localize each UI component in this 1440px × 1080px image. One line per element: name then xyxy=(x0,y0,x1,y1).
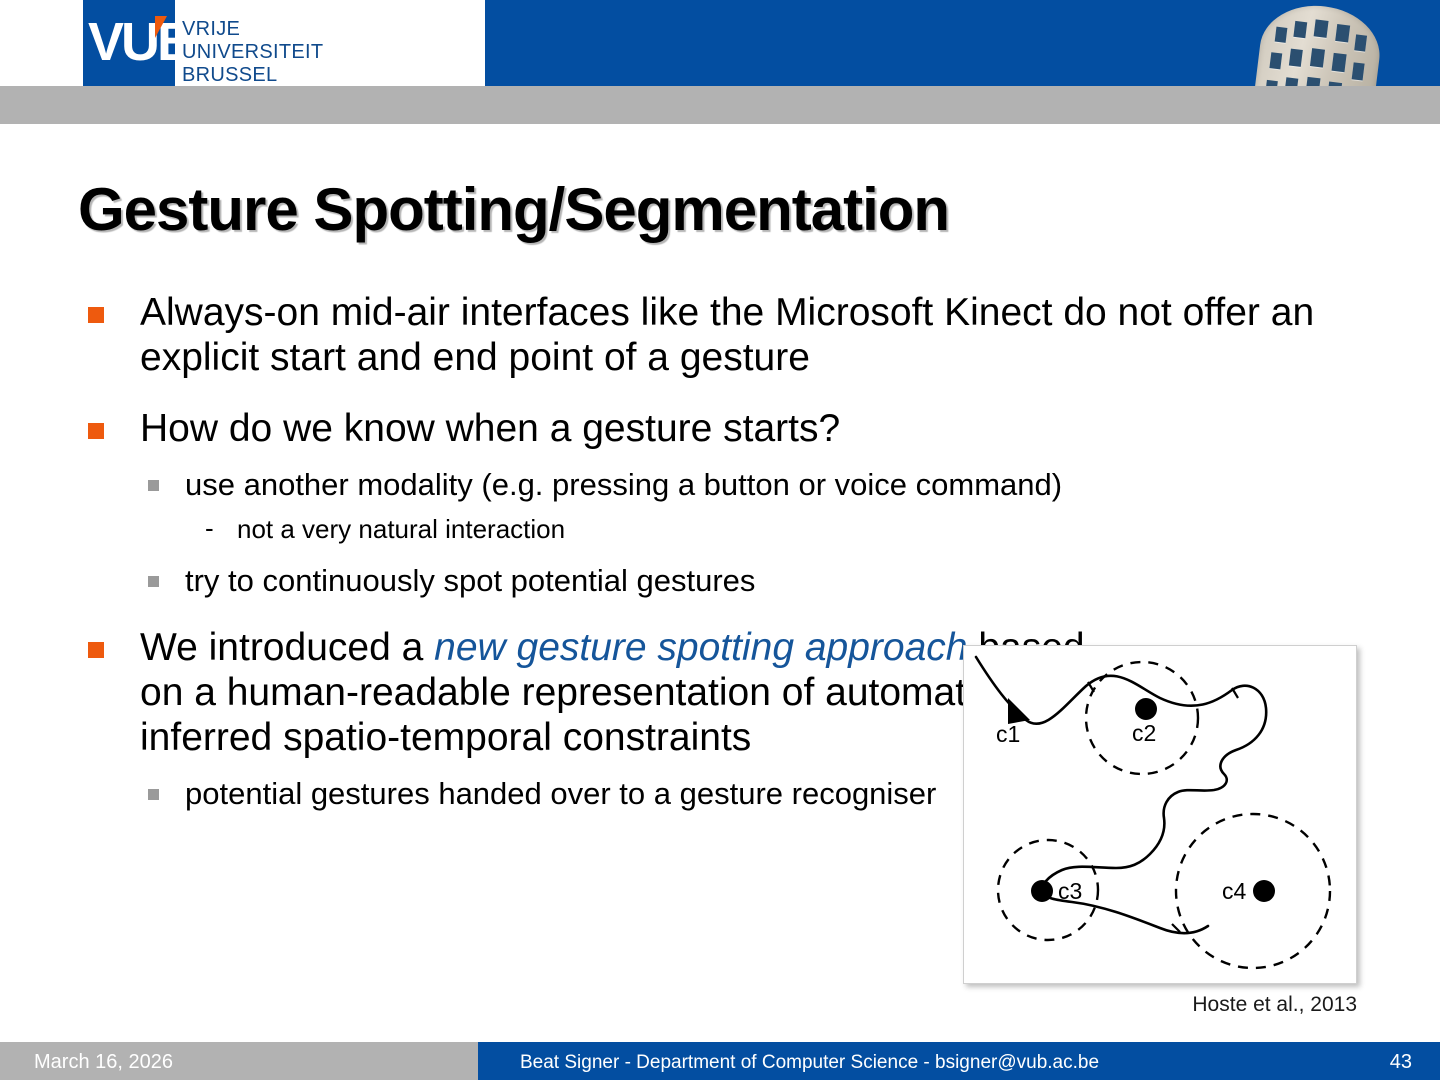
bullet-small-square-icon xyxy=(148,789,159,800)
page-title: Gesture Spotting/Segmentation xyxy=(78,175,1368,244)
bullet-level1-text-pre: We introduced a xyxy=(140,626,434,669)
figure-label-c3: c3 xyxy=(1058,878,1082,904)
gesture-spotting-figure: c1 c2 c3 c4 xyxy=(963,645,1357,984)
bullet-small-square-icon xyxy=(148,480,159,491)
bullet-level1-text: Always-on mid-air interfaces like the Mi… xyxy=(140,291,1314,379)
vub-logo-wordmark: VRIJE UNIVERSITEIT BRUSSEL xyxy=(182,18,323,87)
footer-page-number: 43 xyxy=(1390,1051,1412,1074)
bullet-level2-continuously-spot: try to continuously spot potential gestu… xyxy=(0,561,1440,601)
bullet-level2-potential-gestures: potential gestures handed over to a gest… xyxy=(0,774,945,814)
bullet-level2-text: use another modality (e.g. pressing a bu… xyxy=(185,467,1062,502)
emphasis-new-gesture-spotting-approach: new gesture spotting approach xyxy=(434,626,967,669)
vub-logo-orange-accent-icon xyxy=(155,16,167,38)
bullet-level1-we-introduced: We introduced a new gesture spotting app… xyxy=(0,625,1100,760)
bullet-square-icon xyxy=(88,307,104,323)
centroid-dot-c3 xyxy=(1031,880,1053,902)
bullet-level2-use-another-modality: use another modality (e.g. pressing a bu… xyxy=(0,465,1440,505)
bullet-dash-icon: - xyxy=(205,510,214,546)
vub-wordmark-line2: UNIVERSITEIT xyxy=(182,41,323,64)
gesture-trajectory-diagram: c1 c2 c3 c4 xyxy=(964,646,1356,983)
figure-label-c2: c2 xyxy=(1132,720,1156,746)
vub-wordmark-line3: BRUSSEL xyxy=(182,64,323,87)
bullet-square-icon xyxy=(88,423,104,439)
bullet-level2-text-alt: potential gestures handed over to a gest… xyxy=(185,776,936,811)
vub-logo-mark: VUB xyxy=(83,0,175,86)
bullet-square-icon xyxy=(88,642,104,658)
bullet-level1-how-do-we-know: How do we know when a gesture starts? xyxy=(0,406,1440,451)
footer-date: March 16, 2026 xyxy=(34,1051,173,1074)
vub-wordmark-line1: VRIJE xyxy=(182,18,323,41)
bullet-level1-always-on: Always-on mid-air interfaces like the Mi… xyxy=(0,290,1440,380)
figure-label-c1: c1 xyxy=(996,721,1020,747)
slide-footer: March 16, 2026 Beat Signer - Department … xyxy=(0,1042,1440,1080)
bullet-small-square-icon xyxy=(148,576,159,587)
bullet-level3-text: not a very natural interaction xyxy=(237,514,565,544)
slide-header: VUB VRIJE UNIVERSITEIT BRUSSEL xyxy=(0,0,1440,130)
bullet-level3-not-natural: - not a very natural interaction xyxy=(0,511,1440,547)
centroid-dot-c2 xyxy=(1135,698,1157,720)
figure-label-c4: c4 xyxy=(1222,878,1247,904)
centroid-dot-c4 xyxy=(1253,880,1275,902)
header-gray-band xyxy=(0,86,1440,124)
bullet-level2-text: try to continuously spot potential gestu… xyxy=(185,563,755,598)
figure-caption: Hoste et al., 2013 xyxy=(963,993,1357,1017)
footer-attribution: Beat Signer - Department of Computer Sci… xyxy=(520,1052,1099,1074)
bullet-level1-text: How do we know when a gesture starts? xyxy=(140,407,840,450)
